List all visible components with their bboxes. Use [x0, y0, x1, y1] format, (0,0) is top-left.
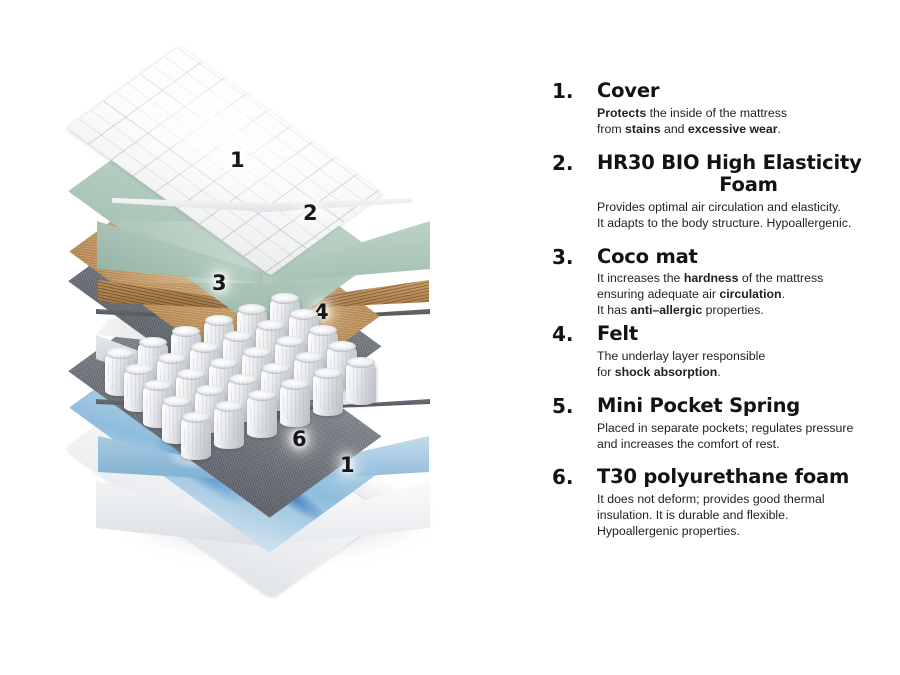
pocket-spring: [346, 361, 376, 405]
legend-body: HR30 BIO High ElasticityFoamProvides opt…: [597, 152, 900, 232]
legend-title: Mini Pocket Spring: [597, 395, 900, 418]
pocket-spring: [181, 416, 211, 460]
pocket-spring: [280, 383, 310, 427]
legend-entry: 1.CoverProtects the inside of the mattre…: [552, 80, 900, 138]
legend-entry: 5.Mini Pocket SpringPlaced in separate p…: [552, 395, 900, 453]
callout-number-hr30-bio-foam: 2: [303, 203, 318, 224]
legend-description: Protects the inside of the mattressfrom …: [597, 106, 900, 138]
legend-description: It increases the hardness of the mattres…: [597, 271, 900, 319]
mattress-layers-infographic: 12345461 1.CoverProtects the inside of t…: [0, 0, 900, 675]
legend-body: Mini Pocket SpringPlaced in separate poc…: [597, 395, 900, 453]
pocket-spring: [313, 372, 343, 416]
legend-description: The underlay layer responsiblefor shock …: [597, 349, 900, 381]
legend-number: 5.: [552, 395, 586, 418]
callout-number-cover-base: 1: [340, 455, 355, 476]
legend-entry: 2.HR30 BIO High ElasticityFoamProvides o…: [552, 152, 900, 232]
legend-description: Provides optimal air circulation and ela…: [597, 200, 900, 232]
exploded-mattress-illustration: 12345461: [0, 0, 500, 675]
legend-body: CoverProtects the inside of the mattress…: [597, 80, 900, 138]
legend-title: T30 polyurethane foam: [597, 466, 900, 489]
legend-number: 1.: [552, 80, 586, 103]
legend-title: Felt: [597, 323, 900, 346]
layer-legend-list: 1.CoverProtects the inside of the mattre…: [552, 80, 900, 544]
layer-quilted-cover: [88, 106, 438, 221]
legend-entry: 4.FeltThe underlay layer responsiblefor …: [552, 323, 900, 381]
legend-entry: 6.T30 polyurethane foamIt does not defor…: [552, 466, 900, 540]
legend-description: It does not deform; provides good therma…: [597, 492, 900, 540]
legend-number: 2.: [552, 152, 586, 175]
pocket-spring: [247, 394, 277, 438]
legend-body: T30 polyurethane foamIt does not deform;…: [597, 466, 900, 540]
legend-body: Coco matIt increases the hardness of the…: [597, 246, 900, 320]
legend-description: Placed in separate pockets; regulates pr…: [597, 421, 900, 453]
legend-entry: 3.Coco matIt increases the hardness of t…: [552, 246, 900, 320]
callout-number-t30-polyurethane: 6: [292, 429, 307, 450]
legend-number: 3.: [552, 246, 586, 269]
legend-body: FeltThe underlay layer responsiblefor sh…: [597, 323, 900, 381]
legend-title: HR30 BIO High ElasticityFoam: [597, 152, 900, 197]
pocket-spring: [214, 405, 244, 449]
callout-number-coco-mat: 3: [212, 273, 227, 294]
legend-title: Coco mat: [597, 246, 900, 269]
callout-number-quilted-cover-top: 1: [230, 150, 245, 171]
legend-number: 6.: [552, 466, 586, 489]
legend-number: 4.: [552, 323, 586, 346]
legend-title: Cover: [597, 80, 900, 103]
legend-title-line2: Foam: [597, 174, 900, 197]
